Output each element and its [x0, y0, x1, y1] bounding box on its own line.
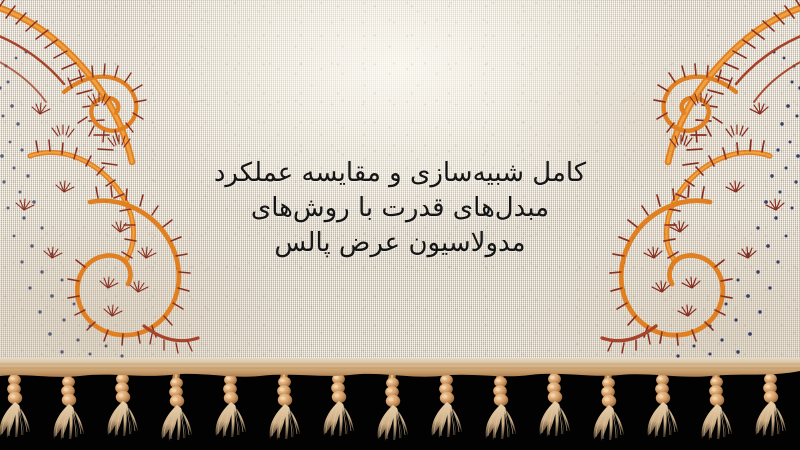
- title-line-2: مبدل‌های قدرت با روش‌های: [0, 191, 800, 226]
- fabric-hem-edge-icon: [0, 358, 800, 380]
- title-line-1: کامل شبیه‌سازی و مقایسه عملکرد: [0, 156, 800, 191]
- presentation-slide: کامل شبیه‌سازی و مقایسه عملکرد مبدل‌های …: [0, 0, 800, 450]
- slide-title: کامل شبیه‌سازی و مقایسه عملکرد مبدل‌های …: [0, 156, 800, 261]
- title-line-3: مدولاسیون عرض پالس: [0, 226, 800, 261]
